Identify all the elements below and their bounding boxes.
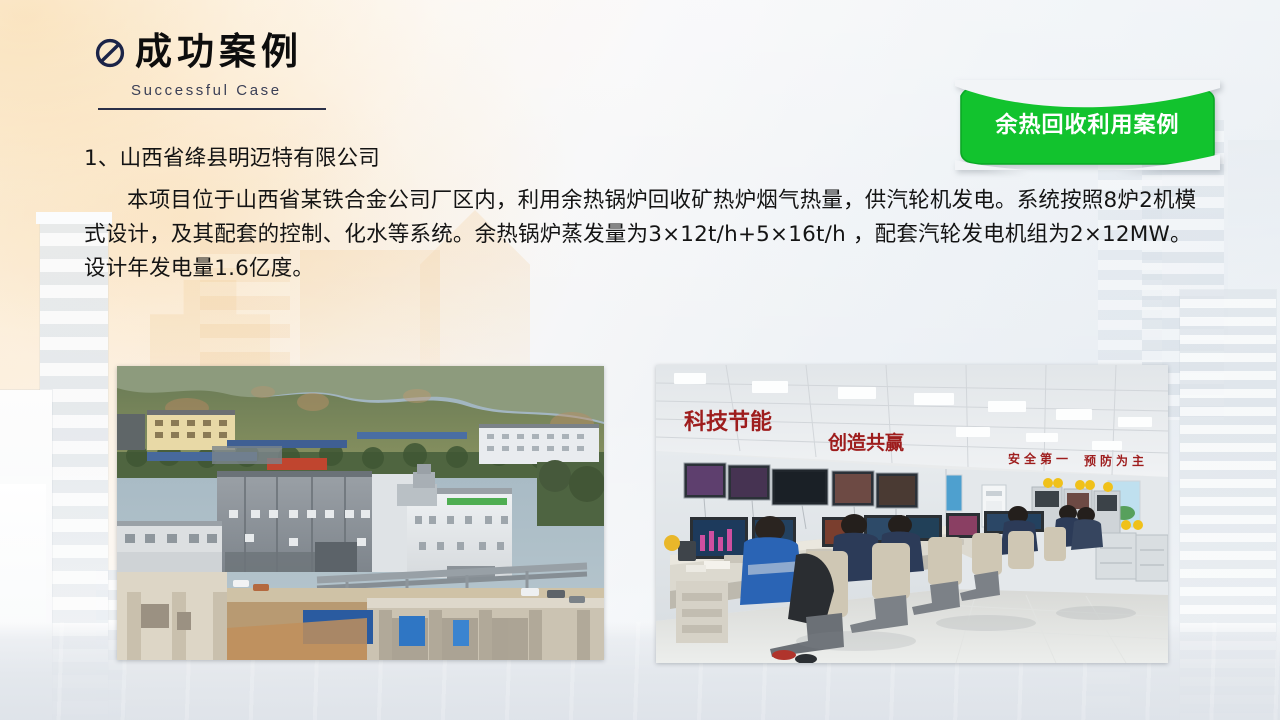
no-entry-slash-icon (93, 36, 127, 70)
title-divider (98, 108, 326, 110)
wall-slogan-safety-2: 预防为主 (1084, 453, 1148, 468)
wall-slogan-safety-1: 安全第一 (1008, 451, 1072, 466)
page-title-row: 成功案例 (93, 33, 326, 70)
plant-aerial-photo-content (117, 366, 604, 660)
wall-slogan-right: 创造共赢 (827, 431, 904, 454)
slide-header: 成功案例 Successful Case (93, 33, 326, 110)
slide-body-text: 1、山西省绛县明迈特有限公司 本项目位于山西省某铁合金公司厂区内，利用余热锅炉回… (84, 143, 1202, 291)
body-item-number: 1、山西省绛县明迈特有限公司 (84, 143, 1202, 175)
ribbon-label: 余热回收利用案例 (955, 107, 1220, 139)
plant-aerial-photo (117, 366, 604, 660)
body-paragraph: 本项目位于山西省某铁合金公司厂区内，利用余热锅炉回收矿热炉烟气热量，供汽轮机发电… (84, 184, 1202, 286)
page-subtitle: Successful Case (131, 82, 326, 99)
wall-slogan-left: 科技节能 (684, 409, 772, 435)
control-room-photo: 科技节能 创造共赢 安全第一 预防为主 (656, 365, 1168, 663)
control-room-photo-content: 科技节能 创造共赢 安全第一 预防为主 (656, 365, 1168, 663)
page-title: 成功案例 (135, 33, 303, 70)
presentation-slide: 成功案例 Successful Case 余热回收利用案例 1、山西省绛县明迈特… (0, 0, 1280, 720)
